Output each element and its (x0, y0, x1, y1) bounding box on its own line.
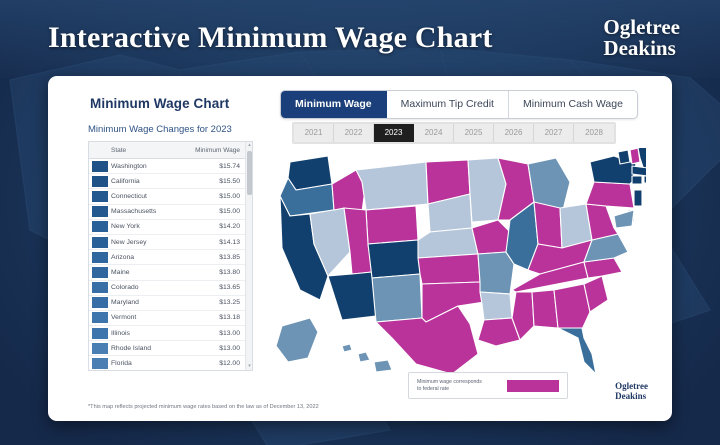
map-state-fl[interactable] (558, 328, 596, 374)
row-color-swatch-cell (89, 326, 111, 341)
row-wage-value: $12.00 (194, 360, 252, 367)
state-wage-table: State Minimum Wage Washington$15.74Calif… (88, 141, 253, 371)
row-color-swatch-cell (89, 310, 111, 325)
legend-label-line2: to federal rate (417, 386, 507, 393)
map-legend: Minimum wage corresponds to federal rate (408, 372, 568, 399)
year-button-2024[interactable]: 2024 (414, 124, 454, 142)
row-color-swatch-cell (89, 174, 111, 189)
row-state-name: Connecticut (111, 193, 194, 200)
table-row[interactable]: Florida$12.00 (89, 356, 252, 371)
map-state-ak[interactable] (276, 318, 318, 362)
table-body: Washington$15.74California$15.50Connecti… (89, 159, 252, 371)
map-state-mt[interactable] (356, 162, 428, 210)
row-wage-value: $15.00 (194, 208, 252, 215)
table-row[interactable]: Massachusetts$15.00 (89, 205, 252, 220)
header-logo-line1: Ogletree (603, 17, 680, 38)
row-color-swatch-cell (89, 280, 111, 295)
table-header-row: State Minimum Wage (89, 142, 252, 159)
table-scrollbar[interactable]: ▴ ▾ (245, 142, 252, 370)
row-wage-value: $14.13 (194, 239, 252, 246)
map-state-nm[interactable] (372, 274, 422, 322)
map-state-ma[interactable] (632, 166, 646, 176)
row-color-swatch-cell (89, 219, 111, 234)
chart-card: Minimum Wage Chart Minimum WageMaximum T… (48, 76, 672, 421)
table-row[interactable]: Maryland$13.25 (89, 296, 252, 311)
table-row[interactable]: Connecticut$15.00 (89, 189, 252, 204)
row-color-swatch-cell (89, 189, 111, 204)
map-state-ar[interactable] (480, 292, 512, 320)
row-wage-value: $13.25 (194, 299, 252, 306)
map-state-ne[interactable] (418, 228, 478, 258)
table-row[interactable]: New Jersey$14.13 (89, 235, 252, 250)
map-state-ks[interactable] (418, 254, 480, 284)
row-state-name: Colorado (111, 284, 194, 291)
year-button-2025[interactable]: 2025 (454, 124, 494, 142)
row-state-name: New York (111, 223, 194, 230)
row-wage-value: $13.65 (194, 284, 252, 291)
map-state-mo[interactable] (478, 252, 514, 294)
header-logo: Ogletree Deakins (603, 17, 680, 59)
row-state-name: Massachusetts (111, 208, 194, 215)
tab-minimum-wage[interactable]: Minimum Wage (281, 91, 387, 118)
table-row[interactable]: Illinois$13.00 (89, 326, 252, 341)
row-color-swatch (91, 175, 109, 188)
map-state-vt[interactable] (618, 150, 630, 164)
row-wage-value: $13.00 (194, 345, 252, 352)
map-state-ia[interactable] (472, 220, 510, 254)
row-color-swatch (91, 357, 109, 370)
header-logo-line2: Deakins (603, 38, 680, 59)
row-wage-value: $13.85 (194, 254, 252, 261)
row-color-swatch-cell (89, 159, 111, 174)
table-row[interactable]: Rhode Island$13.00 (89, 341, 252, 356)
row-wage-value: $15.00 (194, 193, 252, 200)
row-color-swatch-cell (89, 341, 111, 356)
row-color-swatch (91, 342, 109, 355)
legend-label-line1: Minimum wage corresponds (417, 379, 507, 386)
table-row[interactable]: Colorado$13.65 (89, 281, 252, 296)
footnote: *This map reflects projected minimum wag… (88, 404, 319, 410)
year-button-2026[interactable]: 2026 (494, 124, 534, 142)
row-state-name: Arizona (111, 254, 194, 261)
scroll-thumb[interactable] (247, 151, 252, 195)
map-state-wv[interactable] (586, 204, 618, 240)
state-wage-table-panel: Minimum Wage Changes for 2023 State Mini… (88, 124, 253, 371)
map-state-az[interactable] (328, 272, 376, 320)
row-wage-value: $15.74 (194, 163, 252, 170)
row-color-swatch-cell (89, 295, 111, 310)
map-state-ri[interactable] (644, 176, 646, 183)
card-logo-line2: Deakins (615, 392, 648, 402)
row-state-name: Maryland (111, 299, 194, 306)
year-selector: 20212022202320242025202620272028 (292, 122, 616, 144)
row-color-swatch-cell (89, 250, 111, 265)
year-button-2022[interactable]: 2022 (334, 124, 374, 142)
row-color-swatch (91, 205, 109, 218)
row-color-swatch (91, 327, 109, 340)
tab-maximum-tip-credit[interactable]: Maximum Tip Credit (387, 91, 509, 118)
row-color-swatch (91, 251, 109, 264)
table-row[interactable]: Arizona$13.85 (89, 250, 252, 265)
page-header: Interactive Minimum Wage Chart Ogletree … (0, 0, 720, 76)
card-title: Minimum Wage Chart (90, 96, 229, 111)
year-button-2021[interactable]: 2021 (294, 124, 334, 142)
row-color-swatch-cell (89, 234, 111, 249)
page-title: Interactive Minimum Wage Chart (48, 21, 493, 55)
row-state-name: Washington (111, 163, 194, 170)
row-color-swatch (91, 266, 109, 279)
table-row[interactable]: California$15.50 (89, 174, 252, 189)
row-wage-value: $14.20 (194, 223, 252, 230)
row-color-swatch (91, 236, 109, 249)
row-state-name: Illinois (111, 330, 194, 337)
row-state-name: California (111, 178, 194, 185)
row-color-swatch (91, 220, 109, 233)
row-color-swatch (91, 281, 109, 294)
row-color-swatch-cell (89, 356, 111, 371)
row-wage-value: $15.50 (194, 178, 252, 185)
row-color-swatch-cell (89, 204, 111, 219)
map-state-hi[interactable] (342, 344, 392, 372)
year-button-2023[interactable]: 2023 (374, 124, 414, 142)
view-tabs: Minimum WageMaximum Tip CreditMinimum Ca… (280, 90, 638, 119)
table-row[interactable]: Vermont$13.18 (89, 311, 252, 326)
row-color-swatch-cell (89, 265, 111, 280)
map-state-in[interactable] (534, 202, 562, 248)
map-state-pa[interactable] (586, 182, 634, 208)
tab-minimum-cash-wage[interactable]: Minimum Cash Wage (509, 91, 637, 118)
map-state-wy[interactable] (366, 206, 418, 244)
row-color-swatch (91, 160, 109, 173)
row-wage-value: $13.80 (194, 269, 252, 276)
table-row[interactable]: Maine$13.80 (89, 265, 252, 280)
legend-label: Minimum wage corresponds to federal rate (417, 379, 507, 393)
year-button-2028[interactable]: 2028 (574, 124, 614, 142)
map-state-ct[interactable] (632, 176, 642, 184)
table-header-state[interactable]: State (111, 147, 194, 154)
map-state-co[interactable] (368, 240, 420, 278)
card-logo: Ogletree Deakins (615, 382, 648, 401)
row-state-name: Maine (111, 269, 194, 276)
row-color-swatch (91, 296, 109, 309)
row-wage-value: $13.18 (194, 314, 252, 321)
map-state-nj[interactable] (634, 190, 642, 206)
us-choropleth-map[interactable] (266, 148, 646, 388)
legend-color-swatch (507, 380, 559, 392)
table-title: Minimum Wage Changes for 2023 (88, 124, 253, 135)
year-button-2027[interactable]: 2027 (534, 124, 574, 142)
table-header-wage[interactable]: Minimum Wage (194, 147, 252, 154)
row-state-name: Vermont (111, 314, 194, 321)
row-wage-value: $13.00 (194, 330, 252, 337)
table-row[interactable]: New York$14.20 (89, 220, 252, 235)
scroll-up-icon[interactable]: ▴ (246, 142, 253, 149)
row-state-name: Rhode Island (111, 345, 194, 352)
row-state-name: New Jersey (111, 239, 194, 246)
scroll-down-icon[interactable]: ▾ (246, 363, 253, 370)
row-color-swatch (91, 190, 109, 203)
row-color-swatch (91, 311, 109, 324)
map-state-md[interactable] (614, 210, 634, 228)
row-state-name: Florida (111, 360, 194, 367)
table-row[interactable]: Washington$15.74 (89, 159, 252, 174)
